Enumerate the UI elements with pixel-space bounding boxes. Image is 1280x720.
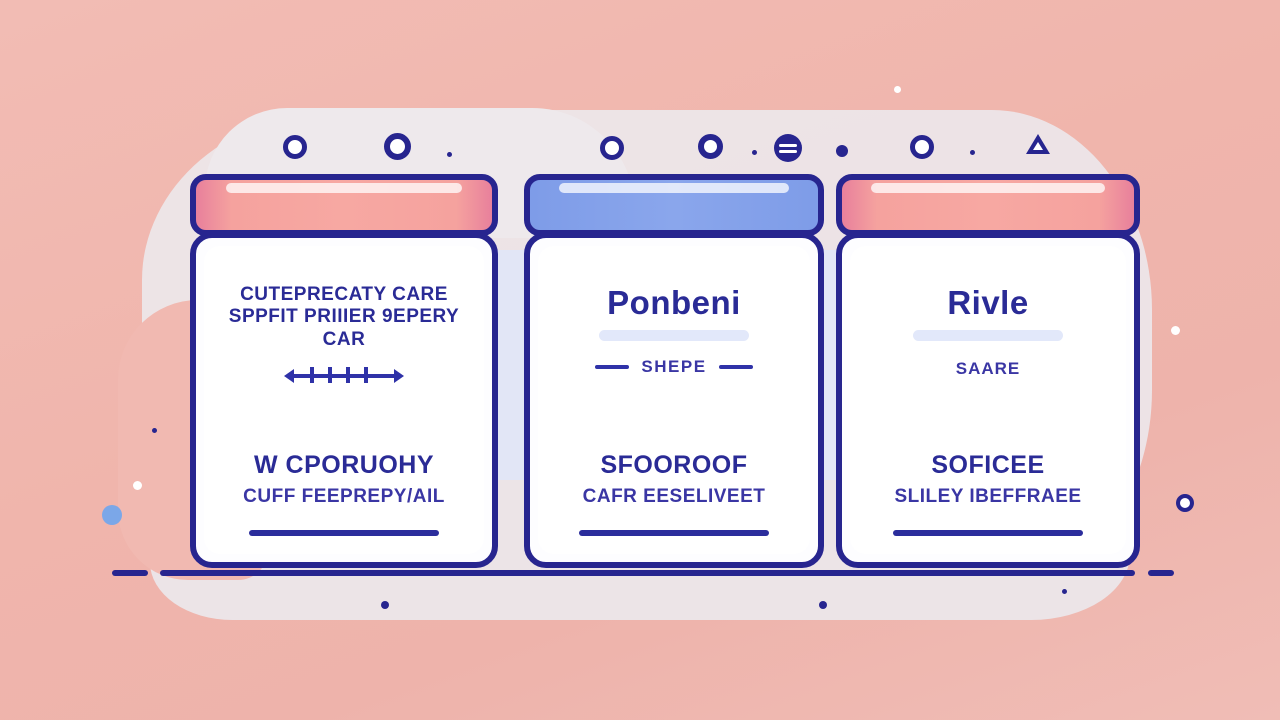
- card-2[interactable]: PonbeniSHEPESFOOROOFCAFR EESELIVEET: [524, 174, 824, 568]
- card-footer-rule: [249, 530, 439, 536]
- card-title-line: Ponbeni: [607, 284, 741, 323]
- card-footer-subline: CAFR EESELIVEET: [583, 486, 766, 508]
- card-content: RivleSAARESOFICEESLILEY IBEFFRAEE: [842, 238, 1134, 562]
- card-footer: SOFICEESLILEY IBEFFRAEE: [856, 451, 1120, 562]
- card-body: PonbeniSHEPESFOOROOFCAFR EESELIVEET: [524, 232, 824, 568]
- card-body: CUTEPRECATY CARESPPFIT PRIIIER 9EPERY CA…: [190, 232, 498, 568]
- card-title: Rivle: [947, 284, 1028, 323]
- card-footer-rule: [893, 530, 1083, 536]
- divider-dash-right: [719, 365, 753, 369]
- double-arrow-ticks-icon: [284, 369, 404, 381]
- card-header[interactable]: [524, 174, 824, 236]
- card-footer-headline: W CPORUOHY: [254, 451, 434, 480]
- card-1[interactable]: CUTEPRECATY CARESPPFIT PRIIIER 9EPERY CA…: [190, 174, 498, 568]
- card-title: Ponbeni: [607, 284, 741, 323]
- card-content: CUTEPRECATY CARESPPFIT PRIIIER 9EPERY CA…: [196, 238, 492, 562]
- card-header-gloss: [226, 183, 463, 193]
- card-sub-label: SAARE: [956, 359, 1021, 379]
- card-footer-subline: SLILEY IBEFFRAEE: [894, 486, 1081, 508]
- illustration-canvas: CUTEPRECATY CARESPPFIT PRIIIER 9EPERY CA…: [0, 0, 1280, 720]
- card-footer-headline: SOFICEE: [931, 451, 1044, 480]
- card-3[interactable]: RivleSAARESOFICEESLILEY IBEFFRAEE: [836, 174, 1140, 568]
- card-footer-subline: CUFF FEEPREPY/AIL: [243, 486, 445, 508]
- card-header[interactable]: [190, 174, 498, 236]
- card-title-line: CUTEPRECATY CARE: [210, 284, 478, 306]
- card-title-line: SPPFIT PRIIIER 9EPERY CAR: [210, 306, 478, 351]
- card-header[interactable]: [836, 174, 1140, 236]
- card-body: RivleSAARESOFICEESLILEY IBEFFRAEE: [836, 232, 1140, 568]
- card-title-line: Rivle: [947, 284, 1028, 323]
- card-footer: W CPORUOHYCUFF FEEPREPY/AIL: [210, 451, 478, 562]
- card-divider: SHEPE: [595, 357, 752, 377]
- card-header-gloss: [559, 183, 789, 193]
- card-title: CUTEPRECATY CARESPPFIT PRIIIER 9EPERY CA…: [210, 284, 478, 351]
- card-content: PonbeniSHEPESFOOROOFCAFR EESELIVEET: [530, 238, 818, 562]
- divider-label: SHEPE: [641, 357, 706, 377]
- card-footer: SFOOROOFCAFR EESELIVEET: [544, 451, 804, 562]
- card-footer-rule: [579, 530, 769, 536]
- cards-row: CUTEPRECATY CARESPPFIT PRIIIER 9EPERY CA…: [0, 0, 1280, 720]
- card-title-underbar: [599, 330, 749, 341]
- card-footer-headline: SFOOROOF: [600, 451, 747, 480]
- divider-dash-left: [595, 365, 629, 369]
- card-divider: [284, 365, 404, 385]
- card-header-gloss: [871, 183, 1105, 193]
- card-title-underbar: [913, 330, 1063, 341]
